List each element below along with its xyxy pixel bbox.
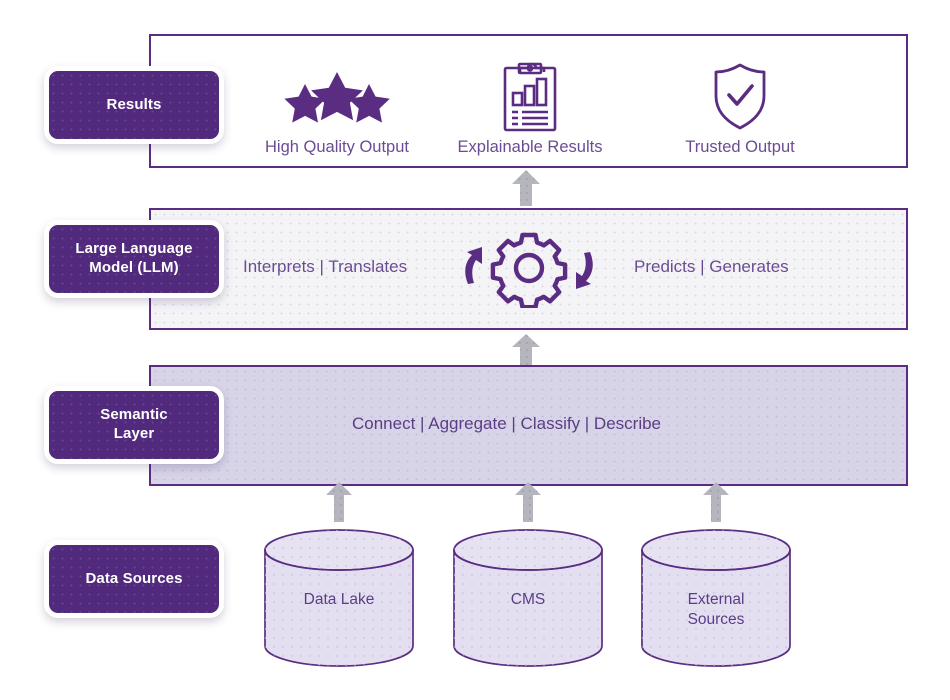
database-cylinder-data-lake[interactable]: Data Lake <box>263 528 415 668</box>
arrow-external-to-semantic <box>702 482 730 527</box>
badge-label-line1: Semantic <box>100 406 168 423</box>
feature-caption: Trusted Output <box>685 138 794 157</box>
arrow-datalake-to-semantic <box>325 482 353 527</box>
arrow-llm-to-results <box>511 170 541 211</box>
gear-rotate-icon <box>455 228 603 313</box>
database-cylinder-external-sources[interactable]: External Sources <box>640 528 792 668</box>
badge-label-line2: Layer <box>114 425 155 442</box>
cylinder-label: Data Lake <box>263 590 415 610</box>
badge-label: Semantic Layer <box>100 406 168 444</box>
three-stars-icon <box>277 60 397 132</box>
badge-label-line1: Large Language <box>75 240 192 257</box>
cylinder-label: External Sources <box>640 590 792 630</box>
badge-data-sources[interactable]: Data Sources <box>44 540 224 618</box>
badge-results[interactable]: Results <box>44 66 224 144</box>
badge-label-line2: Model (LLM) <box>89 259 178 276</box>
feature-trusted-output: Trusted Output <box>635 60 845 157</box>
badge-label: Data Sources <box>85 570 182 589</box>
badge-label: Results <box>107 96 162 115</box>
feature-explainable-results: Explainable Results <box>425 60 635 157</box>
semantic-capabilities-text: Connect | Aggregate | Classify | Describ… <box>352 414 661 434</box>
badge-semantic-layer[interactable]: Semantic Layer <box>44 386 224 464</box>
diagram-canvas: High Quality Output Explainable Results <box>0 0 950 700</box>
badge-label: Large Language Model (LLM) <box>75 240 192 278</box>
arrow-cms-to-semantic <box>514 482 542 527</box>
feature-caption: Explainable Results <box>458 138 603 157</box>
feature-high-quality-output: High Quality Output <box>232 60 442 157</box>
llm-left-text: Interprets | Translates <box>243 257 407 277</box>
badge-large-language-model[interactable]: Large Language Model (LLM) <box>44 220 224 298</box>
database-cylinder-cms[interactable]: CMS <box>452 528 604 668</box>
feature-caption: High Quality Output <box>265 138 409 157</box>
cylinder-label: CMS <box>452 590 604 610</box>
llm-right-text: Predicts | Generates <box>634 257 789 277</box>
clipboard-chart-icon <box>501 60 559 132</box>
shield-check-icon <box>710 60 770 132</box>
